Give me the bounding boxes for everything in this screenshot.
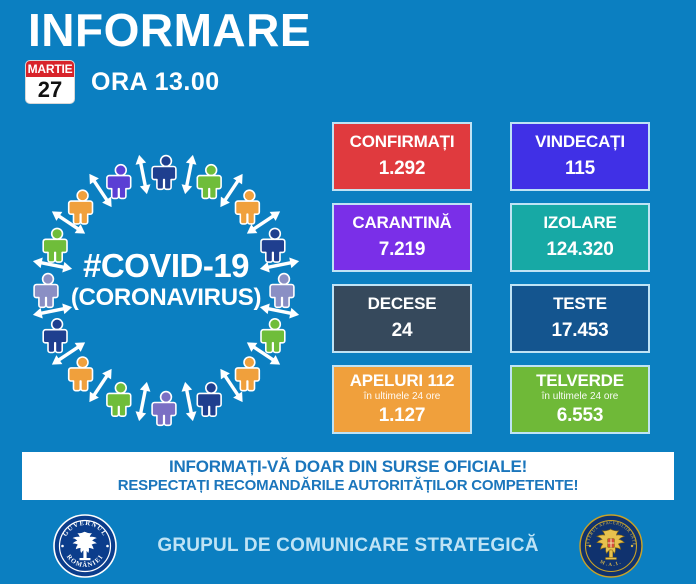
calendar-day-label: 27 [26, 77, 74, 103]
stat-value: 1.292 [379, 157, 426, 181]
stat-label: TESTE [553, 294, 607, 314]
stat-label: TELVERDE [536, 371, 624, 391]
stat-label: IZOLARE [543, 213, 616, 233]
stat-value: 6.553 [557, 404, 604, 428]
stat-sublabel: în ultimele 24 ore [542, 391, 619, 403]
stat-value: 124.320 [546, 238, 613, 262]
ministerul-afacerilor-interne-seal-icon: MINISTERUL AFACERILOR INTERNE M.A.I. [579, 514, 643, 578]
covid-ring-svg [18, 140, 314, 436]
stat-value: 7.219 [379, 238, 426, 262]
calendar-icon: MARTIE 27 [25, 60, 75, 104]
stat-value: 24 [392, 319, 413, 343]
statistics-grid: CONFIRMAȚI 1.292 VINDECAȚI 115 CARANTINĂ… [332, 122, 650, 434]
advisory-line-1: INFORMAȚI-VĂ DOAR DIN SURSE OFICIALE! [169, 457, 527, 477]
footer-label: GRUPUL DE COMUNICARE STRATEGICĂ [157, 535, 538, 557]
calendar-month-label: MARTIE [26, 61, 74, 77]
stat-box-apeluri-112: APELURI 112 în ultimele 24 ore 1.127 [332, 365, 472, 434]
page-title: INFORMARE [28, 6, 311, 54]
guvernul-romaniei-seal-icon: GUVERNUL ROMÂNIEI [53, 514, 117, 578]
stat-value: 1.127 [379, 404, 426, 428]
stat-label: VINDECAȚI [535, 132, 625, 152]
stat-box-carantina: CARANTINĂ 7.219 [332, 203, 472, 272]
stat-value: 115 [565, 157, 595, 181]
stat-box-izolare: IZOLARE 124.320 [510, 203, 650, 272]
stat-label: CONFIRMAȚI [350, 132, 455, 152]
informare-poster: INFORMARE MARTIE 27 ORA 13.00 [0, 0, 696, 584]
advisory-banner: INFORMAȚI-VĂ DOAR DIN SURSE OFICIALE! RE… [22, 452, 674, 500]
footer: GUVERNUL ROMÂNIEI GRUPUL DE COMUNICARE S… [0, 508, 696, 584]
stat-box-vindecati: VINDECAȚI 115 [510, 122, 650, 191]
stat-label: APELURI 112 [350, 371, 455, 391]
stat-value: 17.453 [552, 319, 609, 343]
time-label: ORA 13.00 [91, 68, 220, 97]
stat-box-teste: TESTE 17.453 [510, 284, 650, 353]
stat-label: DECESE [368, 294, 437, 314]
stat-label: CARANTINĂ [352, 213, 451, 233]
stat-box-telverde: TELVERDE în ultimele 24 ore 6.553 [510, 365, 650, 434]
stat-box-decese: DECESE 24 [332, 284, 472, 353]
advisory-line-2: RESPECTAȚI RECOMANDĂRILE AUTORITĂȚILOR C… [118, 477, 579, 495]
date-time-bar: MARTIE 27 ORA 13.00 [25, 60, 220, 104]
covid-ring-graphic: #COVID-19 (CORONAVIRUS) [18, 140, 314, 436]
stat-box-confirmati: CONFIRMAȚI 1.292 [332, 122, 472, 191]
stat-sublabel: în ultimele 24 ore [364, 391, 441, 403]
